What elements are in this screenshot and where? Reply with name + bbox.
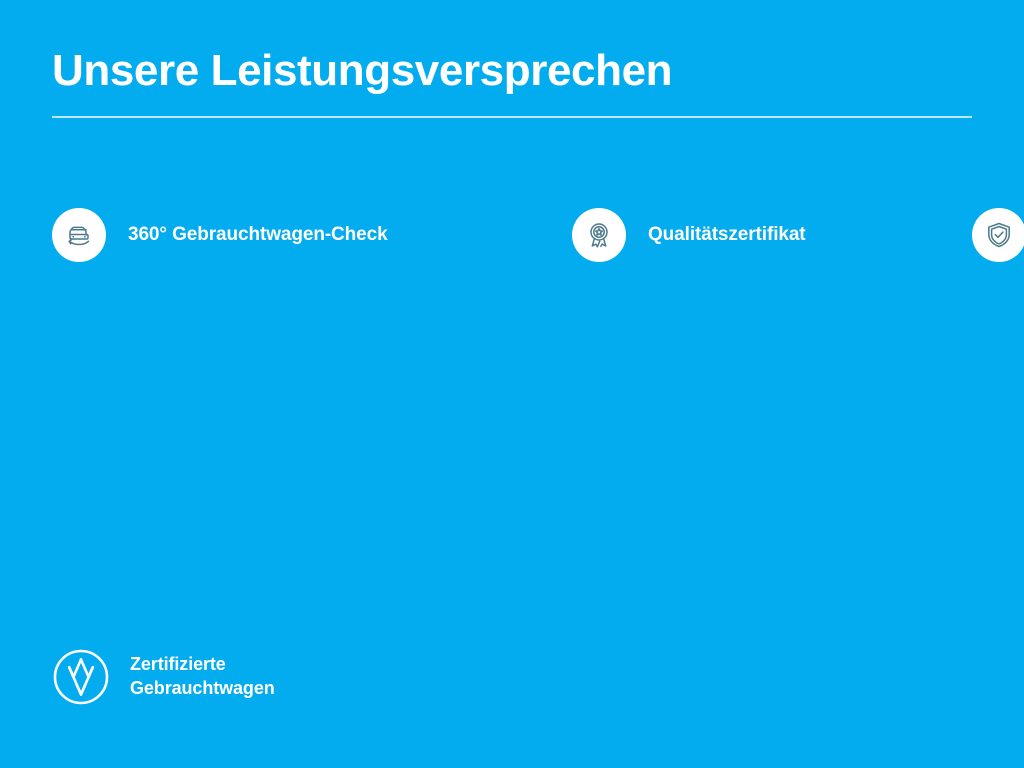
brand-footer: Zertifizierte Gebrauchtwagen: [52, 648, 275, 706]
promise-slide: Unsere Leistungsversprechen 360° Gebrauc…: [0, 0, 1024, 768]
car-360-check-icon: [52, 208, 106, 262]
header-divider: [52, 116, 972, 118]
brand-line-1: Zertifizierte: [130, 653, 275, 677]
award-rosette-icon: [572, 208, 626, 262]
brand-text: Zertifizierte Gebrauchtwagen: [130, 653, 275, 701]
features-grid: 360° Gebrauchtwagen-Check Qualitätszerti…: [52, 196, 972, 274]
feature-label: 360° Gebrauchtwagen-Check: [128, 224, 388, 246]
shield-check-icon: [972, 208, 1024, 262]
feature-item-360-check: 360° Gebrauchtwagen-Check: [52, 196, 572, 274]
header: Unsere Leistungsversprechen: [52, 48, 972, 118]
brand-line-2: Gebrauchtwagen: [130, 677, 275, 701]
feature-item-quality-certificate: Qualitätszertifikat: [572, 196, 972, 274]
page-title: Unsere Leistungsversprechen: [52, 48, 972, 94]
feature-item-warranty: Gebrauchtwagengarantie: [972, 196, 1024, 274]
volkswagen-logo: [52, 648, 110, 706]
feature-label: Qualitätszertifikat: [648, 224, 806, 246]
